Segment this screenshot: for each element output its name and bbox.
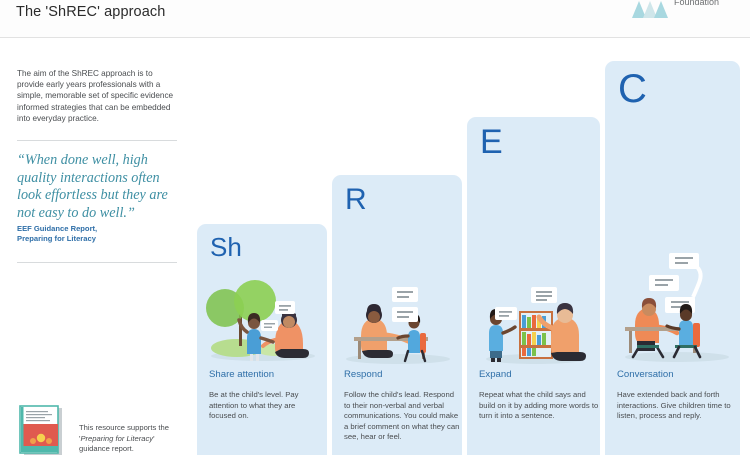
- pull-quote: “When done well, high quality interactio…: [17, 152, 182, 222]
- card-title-e: Expand: [479, 369, 512, 380]
- card-body-r: Follow the child's lead. Respond to thei…: [344, 390, 460, 443]
- eef-logo: Endowment Foundation: [632, 0, 740, 30]
- sidebar-divider-bottom: [17, 262, 177, 263]
- card-letter-r: R: [345, 185, 367, 215]
- card-body-sh: Be at the child's level. Pay attention t…: [209, 390, 319, 422]
- expand-illustration: [475, 285, 597, 365]
- page-title: The 'ShREC' approach: [16, 4, 165, 20]
- shrec-card-sh[interactable]: Sh: [197, 224, 327, 455]
- eef-logo-text: Endowment Foundation: [674, 0, 722, 8]
- card-title-r: Respond: [344, 369, 382, 380]
- card-title-sh: Share attention: [209, 369, 274, 380]
- card-body-e: Repeat what the child says and build on …: [479, 390, 599, 422]
- resource-line3: guidance report.: [79, 444, 134, 453]
- resource-note-text: This resource supports the 'Preparing fo…: [79, 423, 187, 455]
- eef-logo-mark: [632, 0, 668, 18]
- shrec-card-e[interactable]: E: [467, 117, 600, 455]
- shrec-card-c[interactable]: C: [605, 61, 740, 455]
- conversation-illustration: [617, 251, 737, 365]
- booklet-thumbnail-icon: [17, 405, 65, 455]
- sidebar-divider-top: [17, 140, 177, 141]
- quote-attribution-line1: EEF Guidance Report,: [17, 224, 97, 233]
- card-letter-c: C: [618, 69, 647, 109]
- card-title-c: Conversation: [617, 369, 674, 380]
- share-attention-illustration: [203, 268, 323, 364]
- card-letter-sh: Sh: [210, 234, 242, 260]
- quote-attribution-line2: Preparing for Literacy: [17, 234, 96, 243]
- header-bar: The 'ShREC' approach Endowment Foundatio…: [0, 0, 750, 37]
- shrec-card-r[interactable]: R: [332, 175, 462, 455]
- resource-line1: This resource supports: [79, 423, 156, 432]
- respond-illustration: [336, 281, 460, 365]
- card-letter-e: E: [480, 125, 503, 159]
- intro-paragraph: The aim of the ShREC approach is to prov…: [17, 68, 177, 124]
- resource-line2-italic: Preparing for Literacy: [80, 434, 153, 443]
- header-divider: [0, 37, 750, 38]
- quote-attribution: EEF Guidance Report, Preparing for Liter…: [17, 224, 182, 244]
- card-body-c: Have extended back and forth interaction…: [617, 390, 737, 422]
- slide-canvas: The 'ShREC' approach Endowment Foundatio…: [0, 0, 750, 455]
- resource-line2-suffix: ': [153, 434, 154, 443]
- resource-note: This resource supports the 'Preparing fo…: [17, 405, 187, 455]
